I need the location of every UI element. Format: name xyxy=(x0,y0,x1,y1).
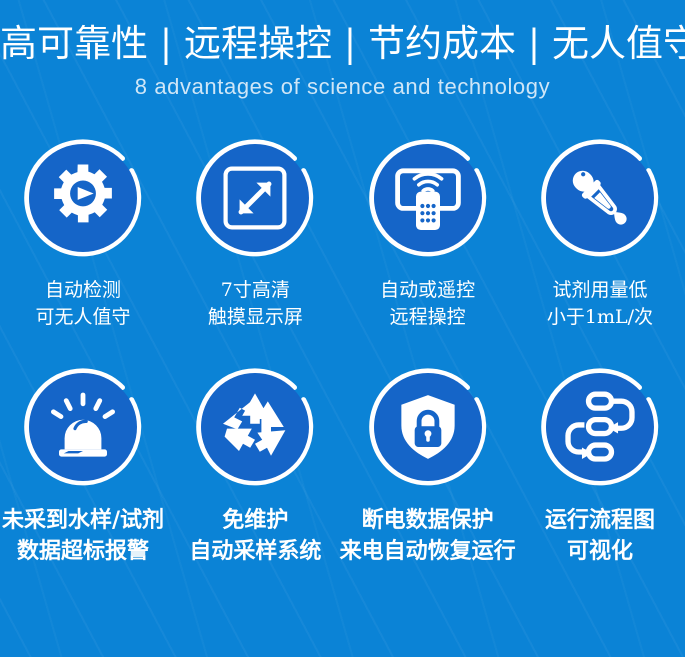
poster-root: 高可靠性 | 远程操控 | 节约成本 | 无人值守 8 advantages o… xyxy=(0,0,685,657)
advantages-row-1: 自动检测 可无人值守 xyxy=(0,134,685,331)
recycle-icon xyxy=(201,373,309,481)
advantage-badge-8 xyxy=(536,363,664,491)
advantage-badge-5 xyxy=(19,363,147,491)
advantage-item-4[interactable]: 试剂用量低 小于1mL/次 xyxy=(515,134,685,331)
advantage-caption-4: 试剂用量低 小于1mL/次 xyxy=(547,277,653,331)
advantage-badge-3 xyxy=(364,134,492,262)
caption-line-1: 断电数据保护 xyxy=(340,505,516,536)
caption-line-2: 触摸显示屏 xyxy=(208,304,303,331)
caption-line-2: 可无人值守 xyxy=(35,304,130,331)
flowchart-loop-icon xyxy=(546,373,654,481)
advantages-grid: 自动检测 可无人值守 xyxy=(0,134,685,567)
caption-line-1: 自动或遥控 xyxy=(380,277,475,304)
advantage-caption-6: 免维护 自动采样系统 xyxy=(189,505,321,567)
fullscreen-expand-icon xyxy=(201,144,309,252)
pipette-dropper-icon xyxy=(546,144,654,252)
caption-line-2: 小于1mL/次 xyxy=(547,304,653,331)
caption-line-1: 7寸高清 xyxy=(208,277,303,304)
screen-remote-control-icon xyxy=(374,144,482,252)
advantage-badge-2 xyxy=(191,134,319,262)
advantage-item-1[interactable]: 自动检测 可无人值守 xyxy=(0,134,168,331)
caption-line-1: 自动检测 xyxy=(35,277,130,304)
advantage-item-2[interactable]: 7寸高清 触摸显示屏 xyxy=(170,134,340,331)
advantage-item-8[interactable]: 运行流程图 可视化 xyxy=(515,363,685,567)
advantage-caption-5: 未采到水样/试剂 数据超标报警 xyxy=(2,505,164,567)
caption-line-2: 可视化 xyxy=(545,536,655,567)
advantage-caption-3: 自动或遥控 远程操控 xyxy=(380,277,475,331)
advantage-caption-2: 7寸高清 触摸显示屏 xyxy=(208,277,303,331)
caption-line-1: 试剂用量低 xyxy=(547,277,653,304)
gear-play-icon xyxy=(29,144,137,252)
advantage-badge-7 xyxy=(364,363,492,491)
caption-line-2: 来电自动恢复运行 xyxy=(340,536,516,567)
advantage-item-5[interactable]: 未采到水样/试剂 数据超标报警 xyxy=(0,363,168,567)
advantage-caption-7: 断电数据保护 来电自动恢复运行 xyxy=(340,505,516,567)
poster-header: 高可靠性 | 远程操控 | 节约成本 | 无人值守 8 advantages o… xyxy=(0,0,685,101)
caption-line-2: 数据超标报警 xyxy=(2,536,164,567)
advantage-item-7[interactable]: 断电数据保护 来电自动恢复运行 xyxy=(343,363,513,567)
caption-line-1: 运行流程图 xyxy=(545,505,655,536)
advantage-item-6[interactable]: 免维护 自动采样系统 xyxy=(170,363,340,567)
page-title: 高可靠性 | 远程操控 | 节约成本 | 无人值守 xyxy=(0,22,685,66)
advantage-badge-1 xyxy=(19,134,147,262)
caption-line-1: 免维护 xyxy=(189,505,321,536)
shield-lock-icon xyxy=(374,373,482,481)
caption-line-2: 远程操控 xyxy=(380,304,475,331)
page-subtitle: 8 advantages of science and technology xyxy=(0,73,685,101)
alarm-siren-icon xyxy=(29,373,137,481)
advantage-caption-1: 自动检测 可无人值守 xyxy=(35,277,130,331)
advantage-badge-4 xyxy=(536,134,664,262)
advantage-item-3[interactable]: 自动或遥控 远程操控 xyxy=(343,134,513,331)
caption-line-2: 自动采样系统 xyxy=(189,536,321,567)
caption-line-1: 未采到水样/试剂 xyxy=(2,505,164,536)
advantage-badge-6 xyxy=(191,363,319,491)
advantage-caption-8: 运行流程图 可视化 xyxy=(545,505,655,567)
advantages-row-2: 未采到水样/试剂 数据超标报警 xyxy=(0,363,685,567)
